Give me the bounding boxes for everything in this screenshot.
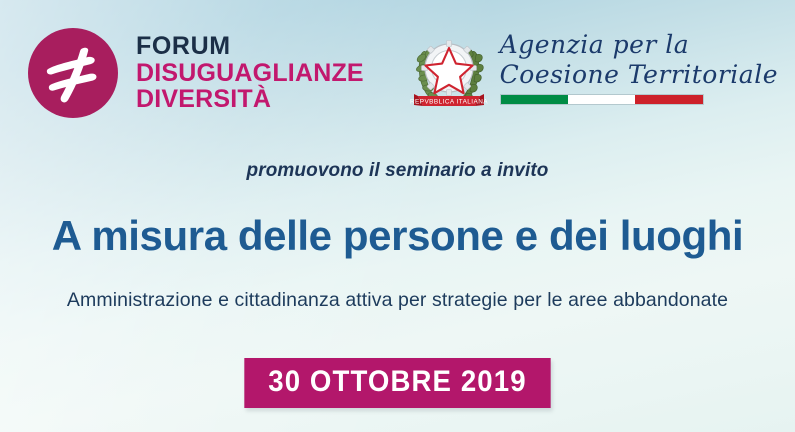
agenzia-script-line-1: Agenzia per la [500,30,778,60]
flag-stripe-red [635,95,702,104]
agenzia-wordmark: Agenzia per la Coesione Territoriale [500,22,778,105]
svg-text:REPVBBLICA ITALIANA: REPVBBLICA ITALIANA [410,98,488,105]
italian-republic-emblem-icon: REPVBBLICA ITALIANA [404,22,494,118]
agenzia-script-line-2: Coesione Territoriale [500,60,778,90]
event-title: A misura delle persone e dei luoghi [0,212,795,260]
agenzia-coesione-territoriale-logo[interactable]: REPVBBLICA ITALIANA Agenzia per la Coesi… [404,22,778,118]
event-kicker: promuovono il seminario a invito [0,160,795,182]
not-equal-brushstroke-icon [28,28,118,118]
italian-flag-bar-icon [500,94,704,105]
forum-wordmark-line-1: FORUM [136,33,364,60]
forum-wordmark-line-2: DISUGUAGLIANZE [136,60,364,87]
event-date-container: 30 OTTOBRE 2019 [0,358,795,408]
forum-logo[interactable]: FORUM DISUGUAGLIANZE DIVERSITÀ [28,28,364,118]
event-banner: FORUM DISUGUAGLIANZE DIVERSITÀ [0,0,795,432]
event-date-badge: 30 OTTOBRE 2019 [244,358,550,408]
forum-wordmark-line-3: DIVERSITÀ [136,86,364,113]
flag-stripe-white [568,95,635,104]
event-subtitle: Amministrazione e cittadinanza attiva pe… [0,289,795,312]
flag-stripe-green [501,95,568,104]
forum-wordmark: FORUM DISUGUAGLIANZE DIVERSITÀ [136,33,364,113]
